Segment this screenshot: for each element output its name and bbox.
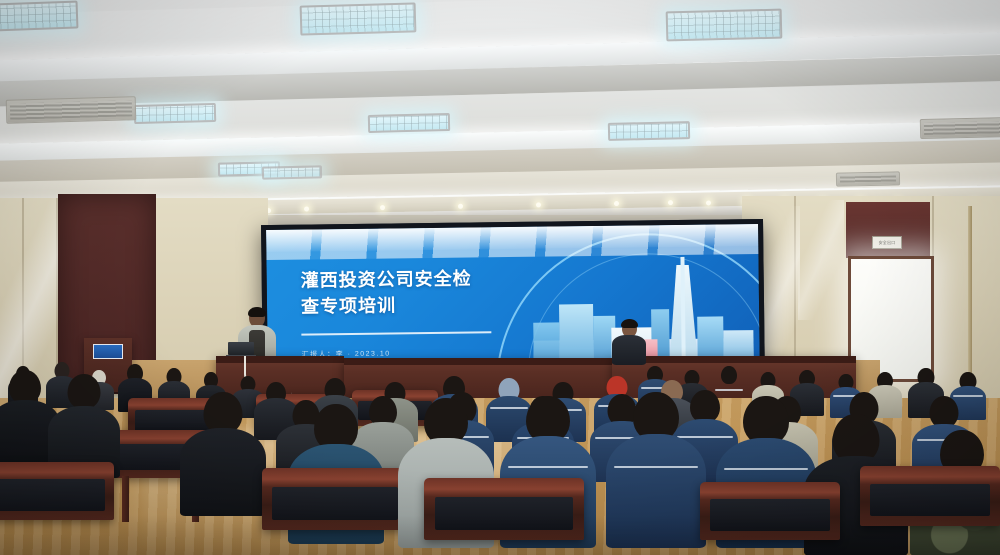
chair[interactable] <box>0 462 114 520</box>
table-top-edge <box>612 356 856 363</box>
building <box>697 316 724 360</box>
downlight-icon <box>458 204 463 209</box>
air-vent <box>920 117 1000 139</box>
air-vent <box>6 96 137 124</box>
attendee <box>180 392 266 516</box>
slide-title-line-1: 灌西投资公司安全检 <box>301 264 561 293</box>
exit-sign-label: 安全出口 <box>879 240 896 246</box>
table-top-edge <box>344 358 614 365</box>
ceiling-panel-light <box>262 165 322 179</box>
building <box>559 304 594 362</box>
downlight-icon <box>304 206 309 211</box>
wall-highlight <box>798 200 844 320</box>
exit-sign: 安全出口 <box>872 236 902 249</box>
slide-title: 灌西投资公司安全检 查专项培训 <box>301 264 562 319</box>
slide-title-line-2: 查专项培训 <box>301 291 561 320</box>
seated-staff-front <box>612 320 646 364</box>
conference-hall-photo: 安全出口 灌西投资公司安全检 查专项培训 汇报人：李 · 2023.10 <box>0 0 1000 555</box>
ceiling <box>0 0 1000 215</box>
downlight-icon <box>668 200 673 205</box>
ceiling-panel-light <box>300 2 417 35</box>
uniform-stripe <box>508 466 589 468</box>
ceiling-panel-light <box>0 1 78 32</box>
laptop-screen <box>228 342 254 355</box>
table-top-edge <box>216 356 344 363</box>
chair-cushion <box>870 484 990 516</box>
attendee-head <box>68 374 101 409</box>
downlight-icon <box>706 200 711 205</box>
uniform-stripe <box>614 466 698 468</box>
lectern-logo <box>93 344 123 359</box>
ceiling-panel-light <box>608 121 690 141</box>
air-vent <box>836 171 900 186</box>
presenter-hair-icon <box>248 307 266 317</box>
chair-cushion <box>0 479 105 510</box>
ceiling-panel-light <box>666 9 783 42</box>
downlight-icon <box>614 201 619 206</box>
attendee-head <box>9 370 41 404</box>
attendee-torso <box>180 428 266 516</box>
downlight-icon <box>536 202 541 207</box>
door-header-panel <box>846 202 930 258</box>
building <box>533 322 559 362</box>
uniform-stripe <box>724 468 808 470</box>
ceiling-panel-light <box>368 113 450 133</box>
seated-staff-torso <box>612 335 646 365</box>
foreground-shadow <box>0 515 1000 555</box>
seated-staff-hair-icon <box>621 319 638 328</box>
ceiling-panel-light <box>134 103 216 124</box>
downlight-icon <box>380 205 385 210</box>
